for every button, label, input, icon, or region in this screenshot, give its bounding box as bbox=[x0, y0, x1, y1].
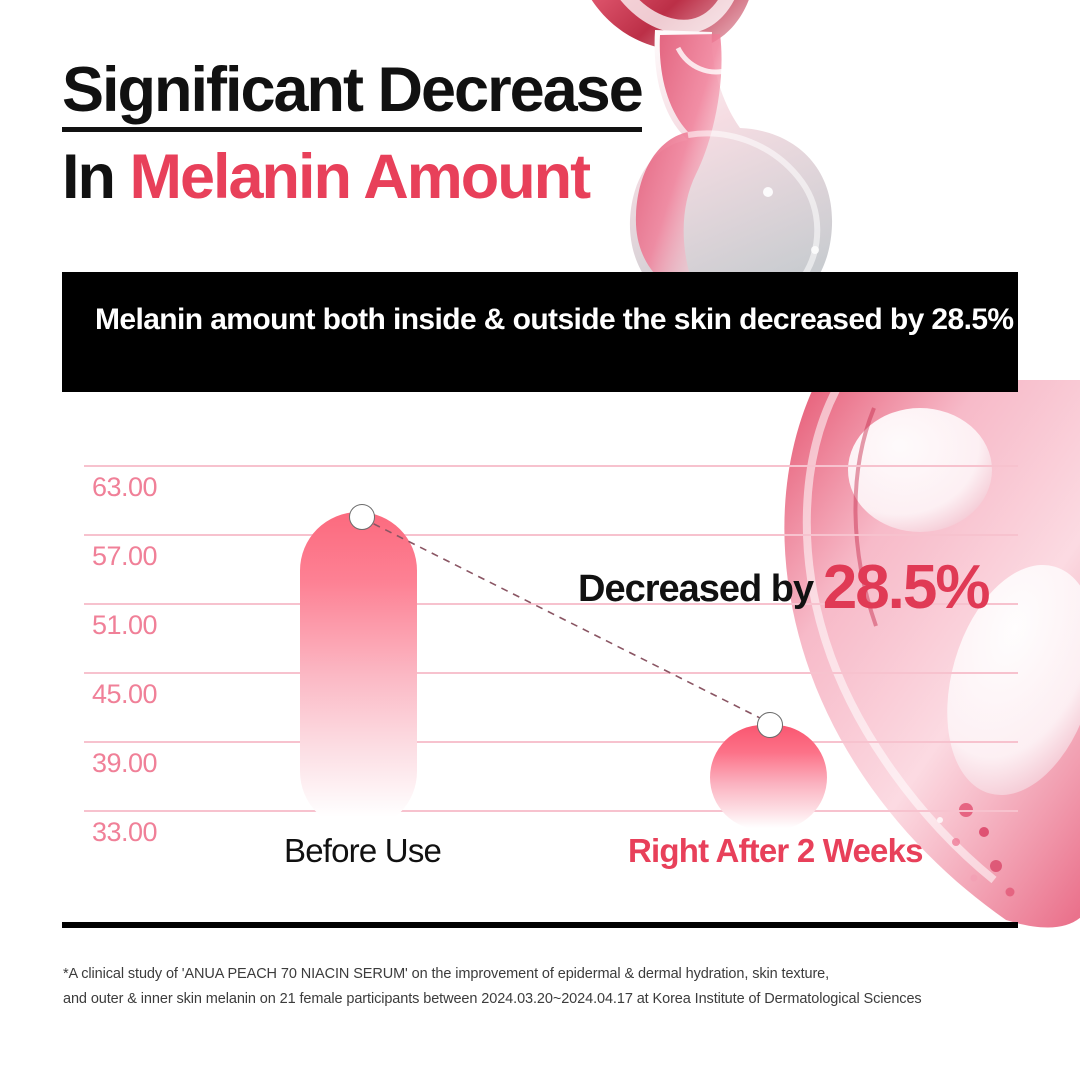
headline-line-2-prefix: In bbox=[62, 142, 130, 212]
x-axis-label-before-use: Before Use bbox=[284, 832, 441, 870]
decrease-annotation-prefix: Decreased by bbox=[578, 568, 823, 610]
footer-divider bbox=[62, 922, 1018, 928]
x-axis-label-after-prefix: Right After bbox=[628, 832, 797, 869]
x-axis-label-after-emphasis: 2 Weeks bbox=[797, 832, 923, 869]
decrease-annotation-value: 28.5% bbox=[823, 553, 989, 622]
headline-line-2: In Melanin Amount bbox=[62, 142, 762, 213]
trend-connector bbox=[0, 420, 1080, 840]
summary-banner-text: Melanin amount both inside & outside the… bbox=[95, 298, 1018, 342]
summary-banner: Melanin amount both inside & outside the… bbox=[62, 272, 1018, 392]
study-footnote-line-1: *A clinical study of 'ANUA PEACH 70 NIAC… bbox=[63, 962, 1033, 987]
data-point-marker-after bbox=[757, 712, 783, 738]
headline-line-2-accent: Melanin Amount bbox=[130, 142, 590, 212]
study-footnote: *A clinical study of 'ANUA PEACH 70 NIAC… bbox=[63, 962, 1033, 1012]
page-title: Significant Decrease In Melanin Amount bbox=[62, 58, 762, 212]
data-point-marker-before bbox=[349, 504, 375, 530]
headline-line-1: Significant Decrease bbox=[62, 58, 642, 132]
decrease-annotation: Decreased by 28.5% bbox=[578, 552, 989, 623]
study-footnote-line-2: and outer & inner skin melanin on 21 fem… bbox=[63, 987, 1033, 1012]
x-axis-label-right-after-2-weeks: Right After 2 Weeks bbox=[628, 832, 923, 870]
